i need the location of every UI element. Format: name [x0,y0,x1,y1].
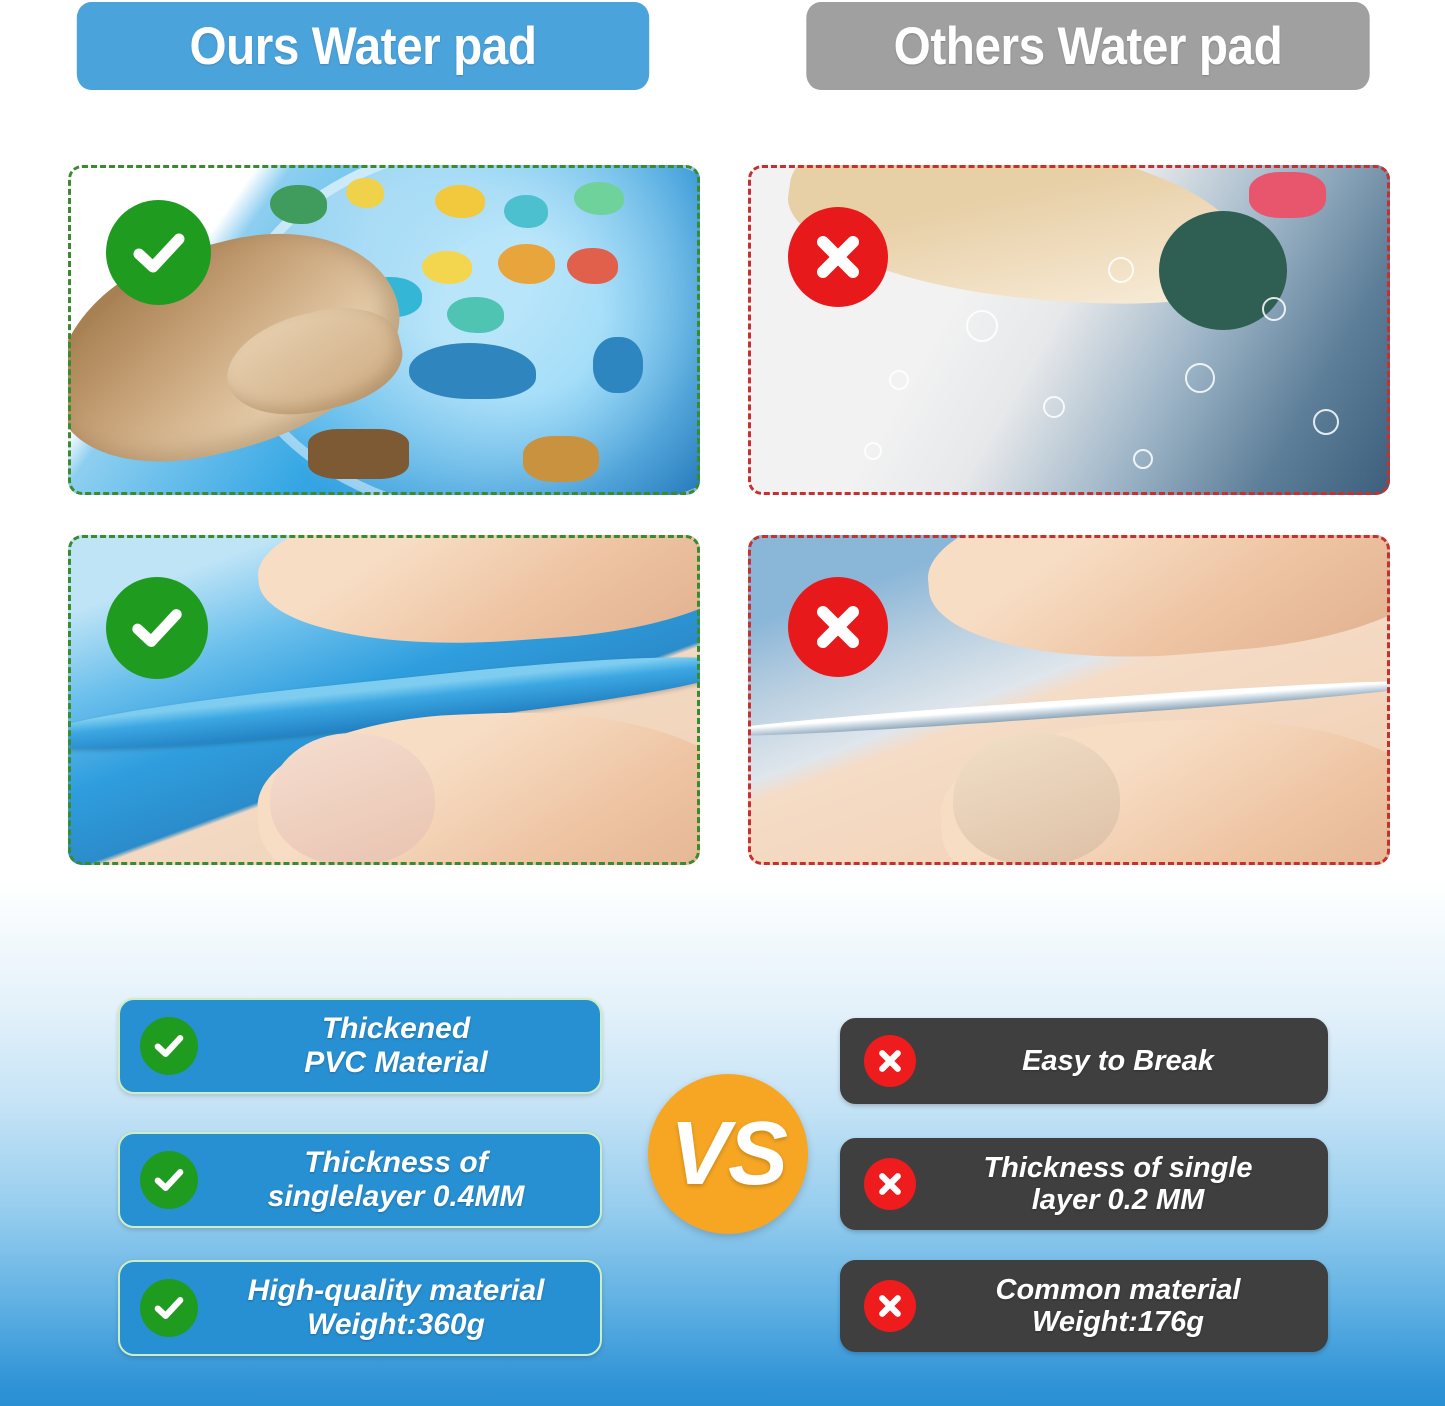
feature-others-1-text: Easy to Break [916,1045,1326,1077]
finger-upper [253,535,700,658]
check-icon [106,200,211,305]
banner-others-label: Others Water pad [894,16,1283,77]
feature-ours-2: Thickness of singlelayer 0.4MM [118,1132,602,1228]
feature-others-2-text: Thickness of single layer 0.2 MM [916,1152,1326,1217]
sea-creature [574,182,625,215]
feature-ours-2-line2: singlelayer 0.4MM [268,1180,525,1213]
fingernail [270,733,434,865]
feature-ours-2-text: Thickness of singlelayer 0.4MM [198,1146,600,1213]
feature-others-1: Easy to Break [840,1018,1328,1104]
photo-others-paw-splash [748,165,1390,495]
feature-others-2-line1: Thickness of single [983,1152,1252,1184]
feature-ours-3-text: High-quality material Weight:360g [198,1274,600,1341]
cross-icon [788,207,888,307]
vs-label: VS [670,1109,786,1199]
sea-creature [593,337,644,393]
feature-others-1-line1: Easy to Break [1022,1045,1214,1077]
water-bubble [966,310,998,342]
cross-icon [864,1280,916,1332]
check-icon [106,577,208,679]
feature-ours-3: High-quality material Weight:360g [118,1260,602,1356]
photo-ours-paw-on-pad [68,165,700,495]
comparison-section: Thickened PVC Material Thickness of sing… [0,960,1445,1406]
fingernail [953,733,1120,865]
feature-others-3-line1: Common material [996,1274,1241,1306]
sea-creature [270,185,327,225]
feature-others-2: Thickness of single layer 0.2 MM [840,1138,1328,1230]
photo-others-thin-edge [748,535,1390,865]
sea-creature [523,436,599,482]
sea-creature [409,343,535,399]
photo-ours-thick-edge [68,535,700,865]
feature-ours-1-line1: Thickened [322,1012,470,1045]
cross-icon [864,1035,916,1087]
water-bubble [864,442,882,460]
sea-creature [498,244,555,284]
feature-others-3-text: Common material Weight:176g [916,1274,1326,1339]
vs-badge: VS [648,1074,808,1234]
water-bubble [1262,297,1286,321]
check-icon [140,1017,198,1075]
check-icon [140,1279,198,1337]
feature-others-3: Common material Weight:176g [840,1260,1328,1352]
water-bubble [1185,363,1215,393]
feature-others-3-line2: Weight:176g [1032,1306,1204,1338]
water-bubble [1108,257,1134,283]
feature-ours-3-line1: High-quality material [248,1274,545,1307]
banner-others-water-pad: Others Water pad [806,2,1369,90]
sea-creature [447,297,504,333]
sea-creature [435,185,486,218]
feature-ours-1-text: Thickened PVC Material [198,1012,600,1079]
feature-ours-2-line1: Thickness of [304,1146,487,1179]
finger-upper [921,535,1390,676]
sea-creature [567,248,618,284]
water-bubble [1043,396,1065,418]
feature-others-2-line2: layer 0.2 MM [1032,1184,1204,1216]
sea-creature [346,178,384,208]
banner-ours-water-pad: Ours Water pad [77,2,649,90]
banner-ours-label: Ours Water pad [189,16,536,77]
sea-creature [422,251,473,284]
cross-icon [788,577,888,677]
header-row: Ours Water pad Others Water pad [0,0,1445,100]
water-bubble [1133,449,1153,469]
feature-ours-1: Thickened PVC Material [118,998,602,1094]
sea-creature [504,195,548,228]
feature-ours-3-line2: Weight:360g [307,1308,485,1341]
feature-ours-1-line2: PVC Material [304,1046,487,1079]
sea-creature [1249,172,1326,218]
water-bubble [1313,409,1339,435]
sea-creature [308,429,409,479]
cross-icon [864,1158,916,1210]
water-bubble [889,370,909,390]
check-icon [140,1151,198,1209]
